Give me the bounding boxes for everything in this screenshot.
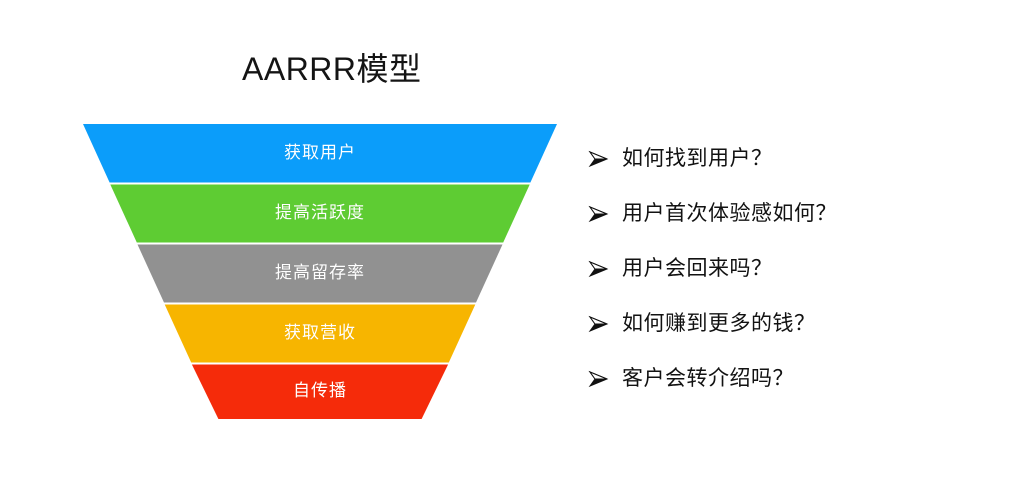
list-item-label: 客户会转介绍吗？ xyxy=(622,366,794,392)
list-item[interactable]: 用户会回来吗？ xyxy=(588,241,988,296)
arrowhead-right-icon xyxy=(588,370,622,388)
questions-list: 如何找到用户？ 用户首次体验感如何？ 用户会回来吗？ 如何赚到更多的钱？ 客户会… xyxy=(588,131,988,406)
list-item-label: 如何赚到更多的钱？ xyxy=(622,311,816,337)
list-item[interactable]: 如何赚到更多的钱？ xyxy=(588,296,988,351)
funnel-label-2: 提高活跃度 xyxy=(275,203,365,223)
funnel-label-4: 获取营收 xyxy=(284,323,356,343)
funnel-label-1: 获取用户 xyxy=(284,143,356,163)
page-title: AARRR模型 xyxy=(242,49,422,89)
list-item[interactable]: 如何找到用户？ xyxy=(588,131,988,186)
funnel-label-5: 自传播 xyxy=(293,381,347,401)
aarrr-funnel-diagram: 获取用户 提高活跃度 提高留存率 获取营收 自传播 xyxy=(80,120,562,424)
arrowhead-right-icon xyxy=(588,150,622,168)
list-item[interactable]: 客户会转介绍吗？ xyxy=(588,351,988,406)
list-item-label: 用户首次体验感如何？ xyxy=(622,201,837,227)
arrowhead-right-icon xyxy=(588,315,622,333)
list-item-label: 如何找到用户？ xyxy=(622,146,773,172)
arrowhead-right-icon xyxy=(588,205,622,223)
list-item-label: 用户会回来吗？ xyxy=(622,256,773,282)
list-item[interactable]: 用户首次体验感如何？ xyxy=(588,186,988,241)
funnel-label-3: 提高留存率 xyxy=(275,263,365,283)
arrowhead-right-icon xyxy=(588,260,622,278)
